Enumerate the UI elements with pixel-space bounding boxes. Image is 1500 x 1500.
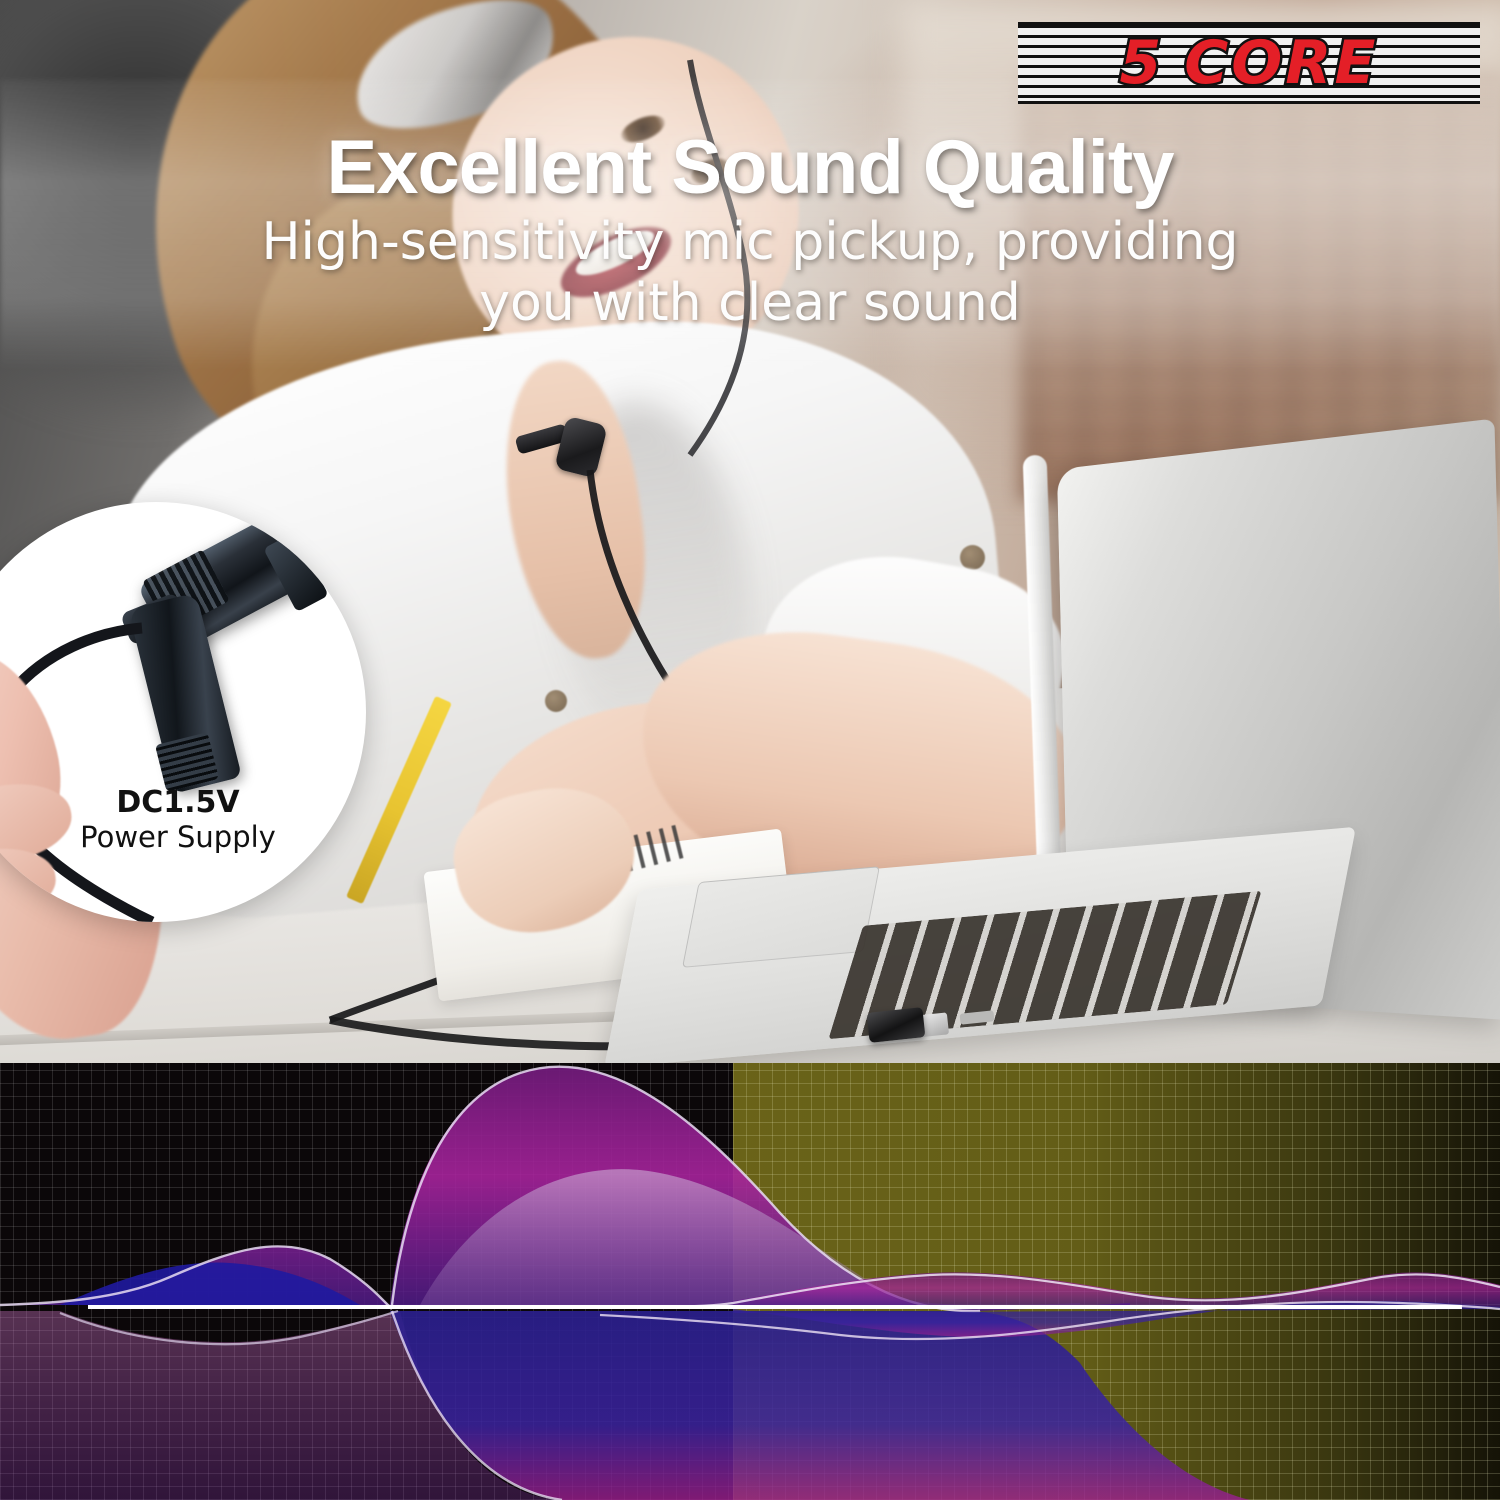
blouse-button [545,690,567,712]
subtitle-line-1: High-sensitivity mic pickup, providing [180,212,1320,273]
page-title: Excellent Sound Quality [0,124,1500,211]
logo-wordmark: 5 CORE [1018,22,1480,104]
waveform-comparison-panel: Before After [0,1063,1500,1500]
product-closeup-inset: DC1.5V Power Supply [0,502,366,922]
power-spec-label: DC1.5V Power Supply [38,786,318,854]
product-marketing-image: 5 CORE Excellent Sound Quality High-sens… [0,0,1500,1500]
laptop-trackpad [682,866,880,968]
usb-connector-plug [867,1007,926,1043]
logo-text-number: 5 [1120,28,1165,98]
inset-microphone-cable [0,502,366,922]
power-spec-value: DC1.5V [38,786,318,821]
brand-logo: 5 CORE [1018,22,1480,104]
subtitle-line-2: you with clear sound [180,273,1320,334]
power-spec-text: Power Supply [38,821,318,855]
waveform-graphic [0,1063,1500,1500]
sleeve-button [960,545,985,570]
logo-text-word: CORE [1184,28,1378,98]
page-subtitle: High-sensitivity mic pickup, providing y… [180,212,1320,335]
before-lower-lobe [390,1311,1250,1500]
